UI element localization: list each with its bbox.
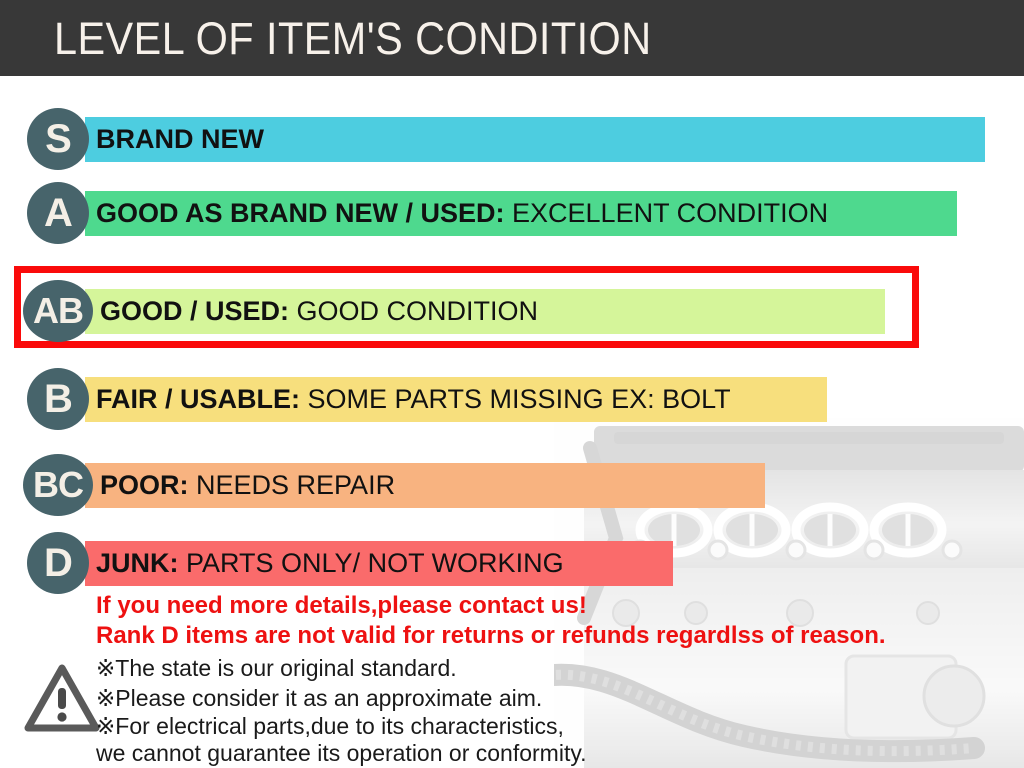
rank-row-d: DJUNK: PARTS ONLY/ NOT WORKING: [0, 528, 1024, 598]
rank-description-d: JUNK: PARTS ONLY/ NOT WORKING: [96, 541, 564, 586]
rank-badge-label: S: [45, 117, 71, 162]
rank-description-a: GOOD AS BRAND NEW / USED: EXCELLENT COND…: [96, 191, 828, 236]
note-line-4: we cannot guarantee its operation or con…: [96, 740, 587, 767]
rank-description-lead: FAIR / USABLE:: [96, 384, 300, 414]
header-bar: LEVEL OF ITEM'S CONDITION: [0, 0, 1024, 76]
note-line-3: ※For electrical parts,due to its charact…: [96, 713, 564, 740]
rank-description-rest: GOOD CONDITION: [289, 296, 538, 326]
rank-badge-d: D: [27, 532, 89, 594]
rank-description-s: BRAND NEW: [96, 117, 264, 162]
rank-row-s: SBRAND NEW: [0, 104, 1024, 174]
rank-badge-label: BC: [33, 464, 83, 506]
rank-description-rest: NEEDS REPAIR: [189, 470, 396, 500]
note-line-2: ※Please consider it as an approximate ai…: [96, 685, 542, 712]
note-line-1: ※The state is our original standard.: [96, 655, 457, 682]
rank-badge-label: AB: [33, 290, 83, 332]
rank-badge-bc: BC: [23, 454, 93, 516]
rank-description-lead: GOOD AS BRAND NEW / USED:: [96, 198, 505, 228]
rank-description-rest: EXCELLENT CONDITION: [505, 198, 829, 228]
condition-level-infographic: LEVEL OF ITEM'S CONDITION SBRAND NEWAGOO…: [0, 0, 1024, 768]
page-title: LEVEL OF ITEM'S CONDITION: [54, 11, 652, 66]
rank-description-lead: JUNK:: [96, 548, 179, 578]
rank-description-b: FAIR / USABLE: SOME PARTS MISSING EX: BO…: [96, 377, 731, 422]
rank-badge-label: A: [44, 191, 72, 236]
warning-triangle-icon: [24, 662, 100, 734]
rank-description-lead: GOOD / USED:: [100, 296, 289, 326]
rank-badge-label: D: [44, 541, 72, 586]
rank-badge-s: S: [27, 108, 89, 170]
rank-description-lead: BRAND NEW: [96, 124, 264, 154]
rank-badge-ab: AB: [23, 280, 93, 342]
rank-description-rest: SOME PARTS MISSING EX: BOLT: [300, 384, 731, 414]
warning-line-1: If you need more details,please contact …: [96, 592, 587, 620]
rank-description-lead: POOR:: [100, 470, 189, 500]
rank-description-rest: PARTS ONLY/ NOT WORKING: [179, 548, 564, 578]
rank-badge-label: B: [44, 377, 72, 422]
rank-badge-a: A: [27, 182, 89, 244]
rank-badge-b: B: [27, 368, 89, 430]
warning-line-2: Rank D items are not valid for returns o…: [96, 622, 886, 650]
rank-description-ab: GOOD / USED: GOOD CONDITION: [100, 289, 538, 334]
rank-row-bc: BCPOOR: NEEDS REPAIR: [0, 450, 1024, 520]
rank-row-b: BFAIR / USABLE: SOME PARTS MISSING EX: B…: [0, 364, 1024, 434]
rank-row-a: AGOOD AS BRAND NEW / USED: EXCELLENT CON…: [0, 178, 1024, 248]
rank-description-bc: POOR: NEEDS REPAIR: [100, 463, 395, 508]
